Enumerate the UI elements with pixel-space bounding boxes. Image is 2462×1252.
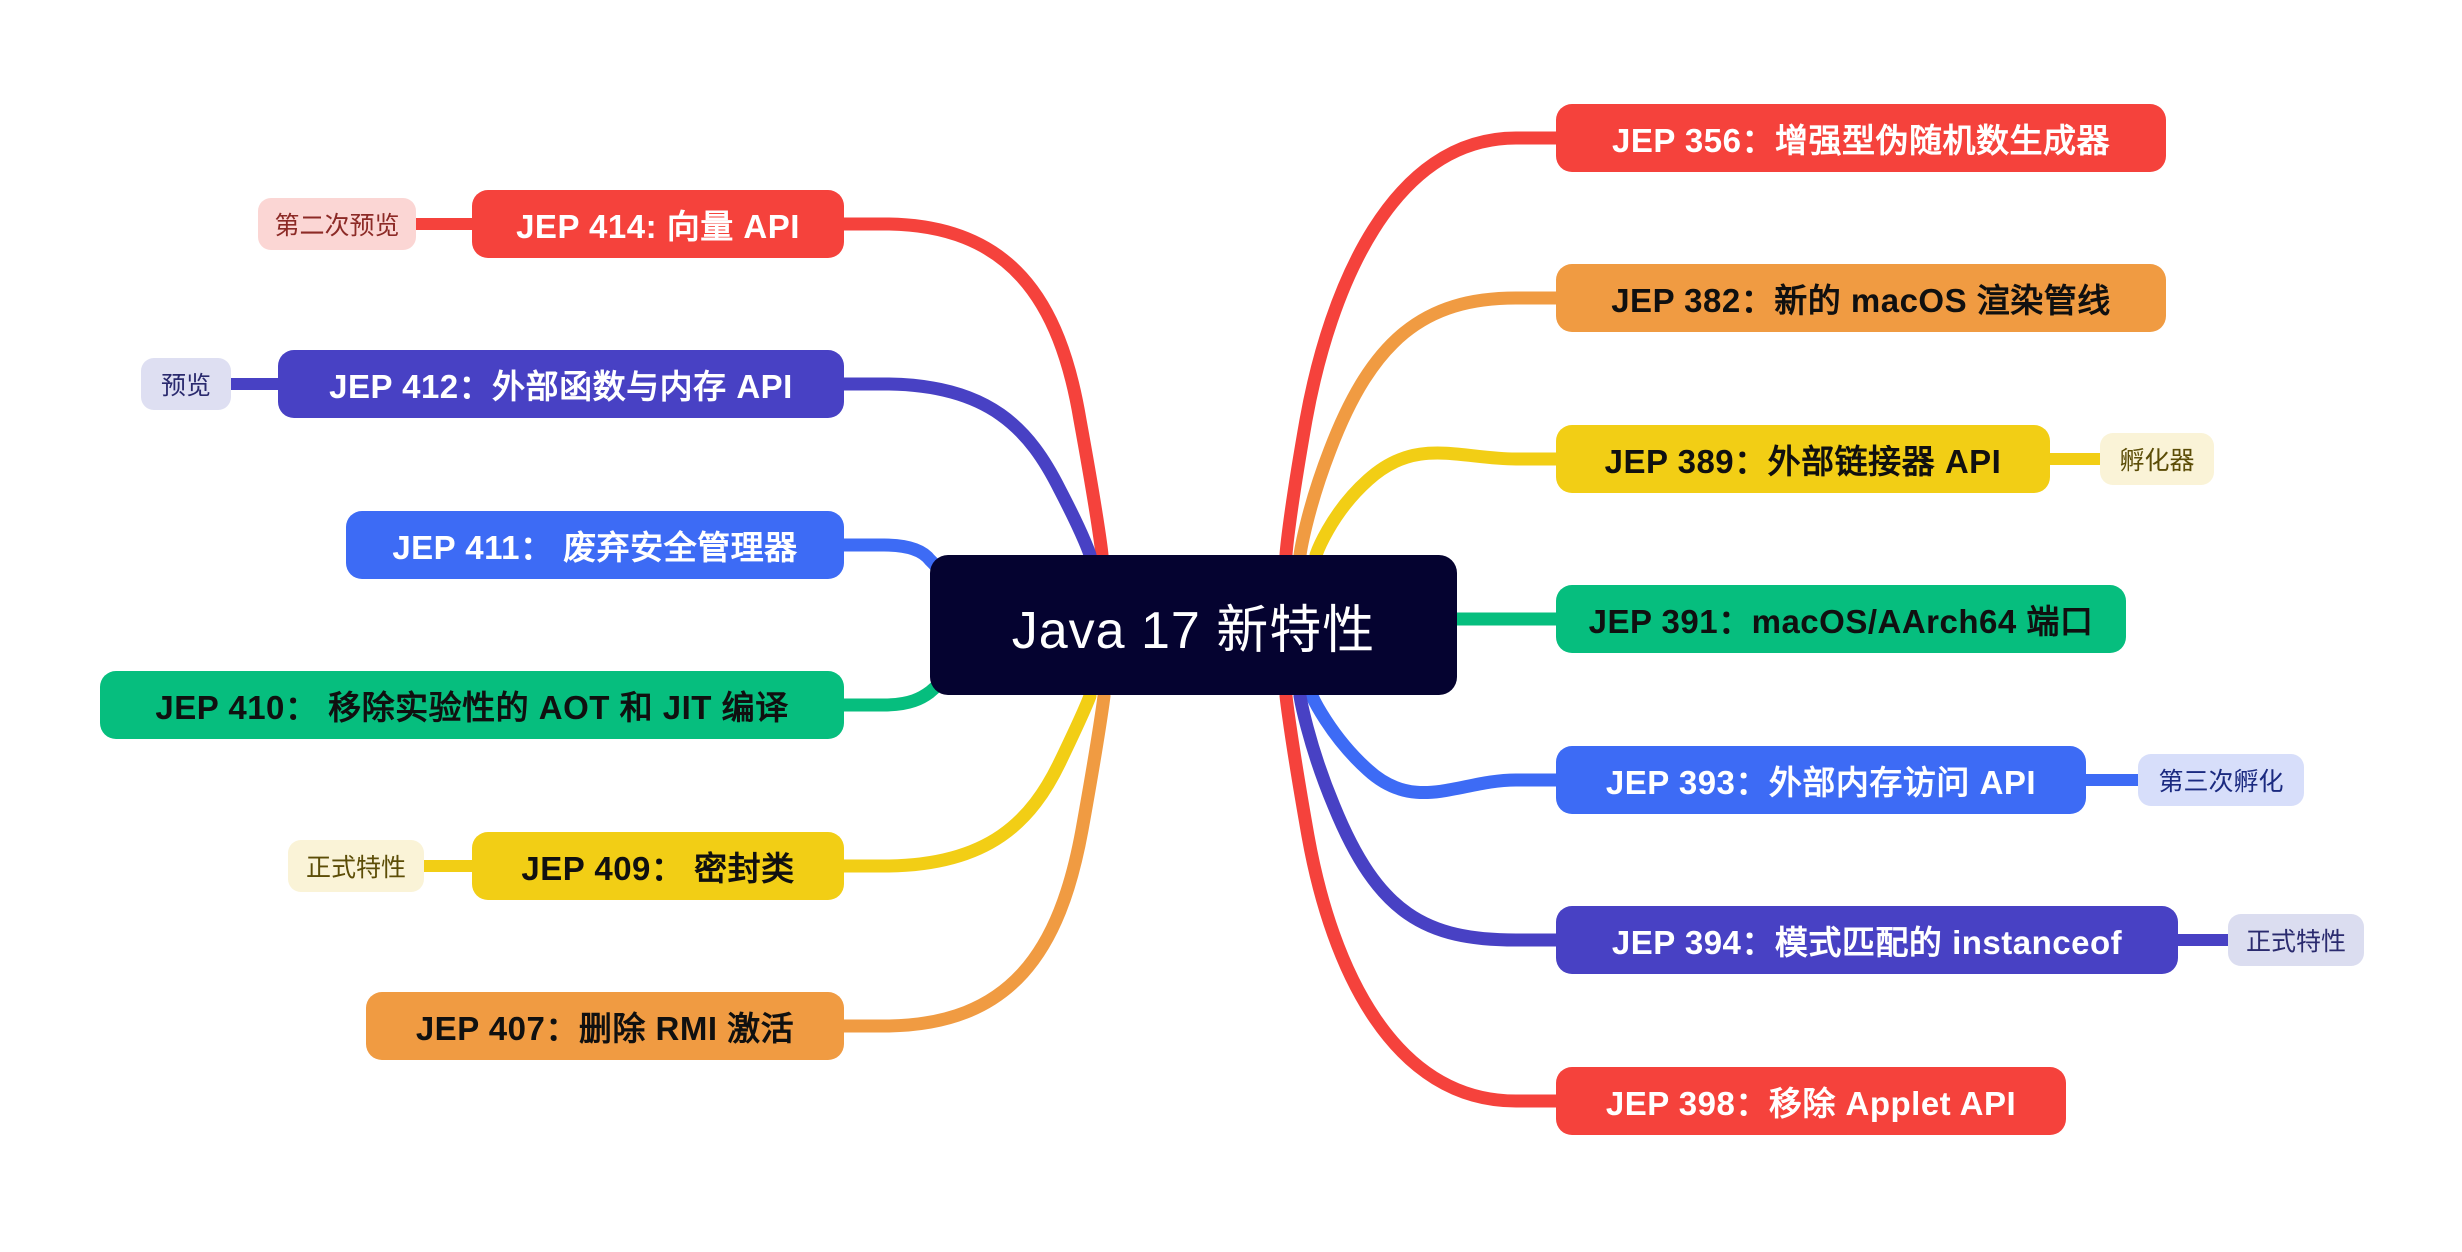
- topic-node-jep-414[interactable]: JEP 414: 向量 API: [472, 190, 844, 258]
- edge-jep-412: [844, 384, 1090, 555]
- topic-node-jep-411[interactable]: JEP 411： 废弃安全管理器: [346, 511, 844, 579]
- tag-jep-414[interactable]: 第二次预览: [258, 198, 416, 250]
- topic-node-label: JEP 412：外部函数与内存 API: [329, 360, 793, 408]
- topic-node-label: JEP 393：外部内存访问 API: [1606, 756, 2036, 804]
- edge-jep-410: [844, 685, 938, 705]
- topic-node-label: JEP 410： 移除实验性的 AOT 和 JIT 编译: [155, 681, 788, 729]
- edge-jep-409: [844, 696, 1090, 866]
- edge-jep-356: [1286, 138, 1556, 555]
- topic-node-label: JEP 391：macOS/AArch64 端口: [1589, 595, 2094, 643]
- tag-label: 正式特性: [2246, 922, 2346, 958]
- topic-node-jep-393[interactable]: JEP 393：外部内存访问 API: [1556, 746, 2086, 814]
- tag-label: 预览: [161, 366, 211, 402]
- topic-node-label: JEP 389：外部链接器 API: [1605, 435, 2002, 483]
- topic-node-jep-382[interactable]: JEP 382：新的 macOS 渲染管线: [1556, 264, 2166, 332]
- central-topic-node[interactable]: Java 17 新特性: [930, 555, 1457, 695]
- edge-jep-393: [1312, 696, 1556, 793]
- tag-label: 正式特性: [306, 848, 406, 884]
- topic-node-label: JEP 382：新的 macOS 渲染管线: [1611, 274, 2111, 322]
- tag-label: 孵化器: [2119, 441, 2194, 477]
- tag-jep-412[interactable]: 预览: [141, 358, 231, 410]
- tag-label: 第二次预览: [274, 206, 399, 242]
- tag-jep-394[interactable]: 正式特性: [2228, 914, 2364, 966]
- edge-jep-407: [844, 696, 1104, 1026]
- tag-jep-393[interactable]: 第三次孵化: [2138, 754, 2304, 806]
- topic-node-jep-394[interactable]: JEP 394：模式匹配的 instanceof: [1556, 906, 2178, 974]
- topic-node-jep-398[interactable]: JEP 398：移除 Applet API: [1556, 1067, 2066, 1135]
- topic-node-label: JEP 409： 密封类: [521, 842, 794, 890]
- topic-node-jep-412[interactable]: JEP 412：外部函数与内存 API: [278, 350, 844, 418]
- tag-jep-409[interactable]: 正式特性: [288, 840, 424, 892]
- topic-node-jep-407[interactable]: JEP 407：删除 RMI 激活: [366, 992, 844, 1060]
- mindmap-canvas: Java 17 新特性 JEP 414: 向量 API第二次预览JEP 412：…: [0, 0, 2462, 1252]
- topic-node-label: JEP 407：删除 RMI 激活: [416, 1002, 794, 1050]
- edge-jep-414: [844, 224, 1102, 555]
- topic-node-label: JEP 394：模式匹配的 instanceof: [1612, 916, 2122, 964]
- topic-node-jep-389[interactable]: JEP 389：外部链接器 API: [1556, 425, 2050, 493]
- topic-node-label: JEP 411： 废弃安全管理器: [392, 521, 797, 569]
- central-topic-label: Java 17 新特性: [1012, 588, 1376, 663]
- edge-jep-389: [1316, 453, 1556, 555]
- topic-node-jep-410[interactable]: JEP 410： 移除实验性的 AOT 和 JIT 编译: [100, 671, 844, 739]
- topic-node-label: JEP 356：增强型伪随机数生成器: [1612, 114, 2110, 162]
- topic-node-jep-409[interactable]: JEP 409： 密封类: [472, 832, 844, 900]
- topic-node-jep-356[interactable]: JEP 356：增强型伪随机数生成器: [1556, 104, 2166, 172]
- edge-jep-382: [1300, 298, 1556, 555]
- edge-jep-398: [1286, 696, 1556, 1101]
- tag-jep-389[interactable]: 孵化器: [2100, 433, 2214, 485]
- topic-node-label: JEP 414: 向量 API: [516, 200, 800, 248]
- edge-jep-394: [1300, 696, 1556, 940]
- edge-jep-411: [844, 545, 938, 568]
- tag-label: 第三次孵化: [2158, 762, 2283, 798]
- topic-node-jep-391[interactable]: JEP 391：macOS/AArch64 端口: [1556, 585, 2126, 653]
- topic-node-label: JEP 398：移除 Applet API: [1606, 1077, 2016, 1125]
